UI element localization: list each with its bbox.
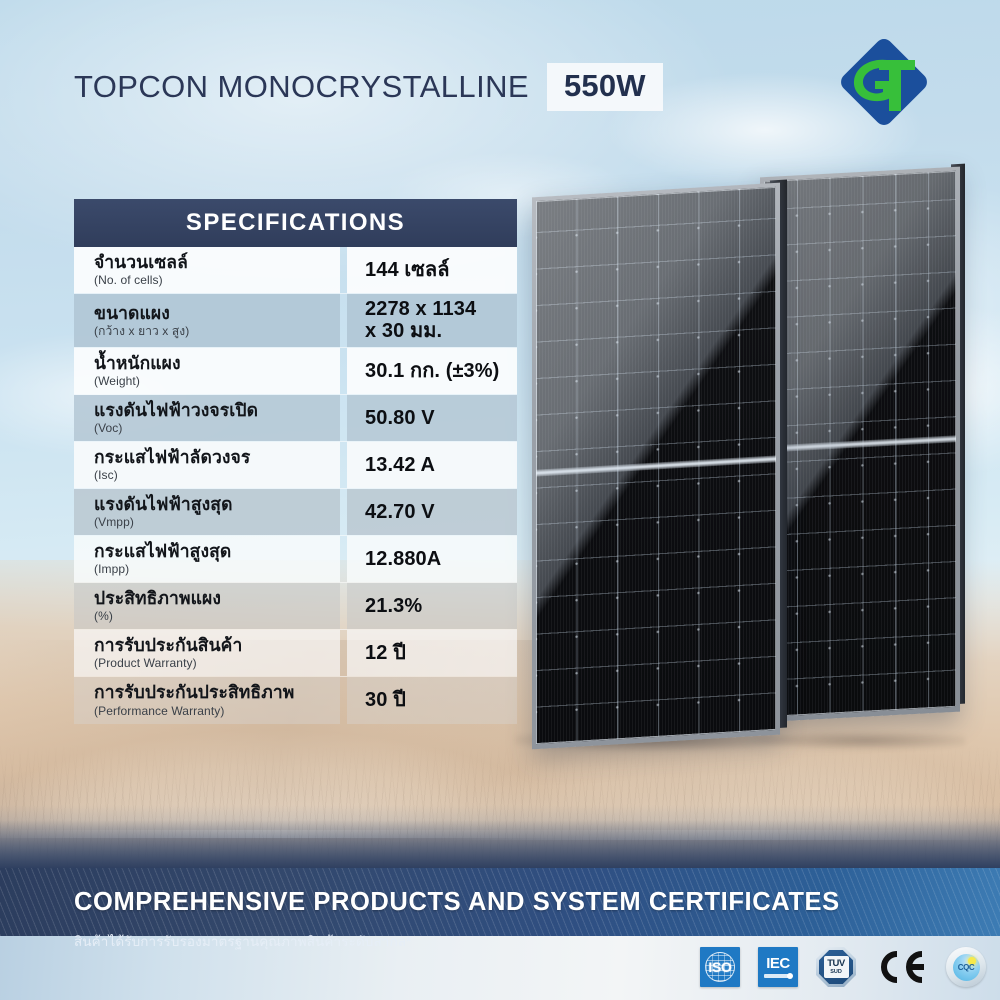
- spec-value-cell: 12.880A: [347, 536, 517, 582]
- tuv-sublabel: SUD: [830, 970, 842, 976]
- spec-value-cell: 50.80 V: [347, 395, 517, 441]
- spec-label-th: กระแสไฟฟ้าลัดวงจร: [94, 447, 340, 467]
- cqc-label: CQC: [958, 963, 975, 972]
- spec-label-cell: ขนาดแผง (กว้าง x ยาว x สูง): [74, 294, 340, 347]
- spec-label-th: แรงดันไฟฟ้าวงจรเปิด: [94, 400, 340, 420]
- spec-value: 30 ปี: [365, 689, 517, 711]
- table-row: จำนวนเซลล์ (No. of cells) 144 เซลล์: [74, 247, 517, 294]
- footer-title: COMPREHENSIVE PRODUCTS AND SYSTEM CERTIF…: [74, 888, 840, 917]
- header-title-row: TOPCON MONOCRYSTALLINE 550W: [74, 63, 663, 111]
- cell-divider: [340, 247, 347, 293]
- panel-glass: [536, 187, 776, 744]
- iec-badge-icon: IEC: [758, 947, 798, 987]
- cell-divider: [340, 677, 347, 724]
- spec-label-th: การรับประกันประสิทธิภาพ: [94, 682, 340, 702]
- tuv-sud-badge-icon: TUV SUD: [816, 947, 856, 987]
- cell-divider: [340, 630, 347, 676]
- cell-divider: [340, 348, 347, 394]
- spec-label-en: (Isc): [94, 468, 340, 482]
- spec-value-cell: 42.70 V: [347, 489, 517, 535]
- spec-label-th: ประสิทธิภาพแผง: [94, 588, 340, 608]
- spec-label-en: (Product Warranty): [94, 656, 340, 670]
- table-row: กระแสไฟฟ้าลัดวงจร (Isc) 13.42 A: [74, 442, 517, 489]
- iec-inner: IEC: [764, 956, 792, 978]
- cell-divider: [340, 395, 347, 441]
- iso-square: ISO: [700, 947, 740, 987]
- tuv-octagon: TUV SUD: [816, 947, 856, 987]
- spec-label-en: (Weight): [94, 374, 340, 388]
- spec-label-th: การรับประกันสินค้า: [94, 635, 340, 655]
- wattage-badge: 550W: [547, 63, 663, 111]
- spec-value: 12 ปี: [365, 642, 517, 664]
- iec-bar-icon: [764, 974, 792, 978]
- certificate-badges: ISO IEC TUV SUD: [700, 940, 986, 994]
- spec-label-cell: ประสิทธิภาพแผง (%): [74, 583, 340, 629]
- spec-label-en: (Vmpp): [94, 515, 340, 529]
- cell-divider: [340, 489, 347, 535]
- spec-value: 42.70 V: [365, 501, 517, 523]
- spec-label-cell: กระแสไฟฟ้าลัดวงจร (Isc): [74, 442, 340, 488]
- panel-glass: [764, 171, 956, 717]
- spec-label-th: น้ำหนักแผง: [94, 353, 340, 373]
- table-row: แรงดันไฟฟ้าวงจรเปิด (Voc) 50.80 V: [74, 395, 517, 442]
- table-row: น้ำหนักแผง (Weight) 30.1 กก. (±3%): [74, 348, 517, 395]
- wattage-label: 550W: [564, 68, 646, 103]
- spec-value: 2278 x 1134: [365, 298, 517, 320]
- spec-value-cell: 30 ปี: [347, 677, 517, 724]
- iec-square: IEC: [758, 947, 798, 987]
- footer-subtitle: สินค้าได้รับการรับรองมาตรฐานคุณภาพสินค้า…: [74, 930, 411, 952]
- cqc-disc: CQC: [953, 954, 980, 981]
- table-row: กระแสไฟฟ้าสูงสุด (Impp) 12.880A: [74, 536, 517, 583]
- cell-divider: [340, 583, 347, 629]
- spec-value-cell: 30.1 กก. (±3%): [347, 348, 517, 394]
- cqc-badge-icon: CQC: [946, 947, 986, 987]
- spec-label-cell: การรับประกันสินค้า (Product Warranty): [74, 630, 340, 676]
- spec-label-cell: การรับประกันประสิทธิภาพ (Performance War…: [74, 677, 340, 724]
- poster-canvas: TOPCON MONOCRYSTALLINE 550W: [0, 0, 1000, 1000]
- spec-label-en: (Impp): [94, 562, 340, 576]
- spec-label-th: ขนาดแผง: [94, 303, 340, 323]
- iec-label: IEC: [766, 956, 790, 971]
- globe-icon: [705, 952, 735, 982]
- spec-value: 12.880A: [365, 548, 517, 570]
- table-row: ขนาดแผง (กว้าง x ยาว x สูง) 2278 x 1134 …: [74, 294, 517, 348]
- spec-value-cell: 2278 x 1134 x 30 มม.: [347, 294, 517, 347]
- spec-label-en: (Performance Warranty): [94, 704, 340, 718]
- cqc-circle: CQC: [946, 947, 986, 987]
- table-row: ประสิทธิภาพแผง (%) 21.3%: [74, 583, 517, 630]
- spec-label-en: (%): [94, 609, 340, 623]
- spec-label-cell: กระแสไฟฟ้าสูงสุด (Impp): [74, 536, 340, 582]
- spec-label-cell: น้ำหนักแผง (Weight): [74, 348, 340, 394]
- ce-marking-icon: [874, 947, 928, 987]
- spec-label-th: แรงดันไฟฟ้าสูงสุด: [94, 494, 340, 514]
- spec-label-cell: จำนวนเซลล์ (No. of cells): [74, 247, 340, 293]
- spec-value: 50.80 V: [365, 407, 517, 429]
- spec-label-th: กระแสไฟฟ้าสูงสุด: [94, 541, 340, 561]
- solar-panel-front: [532, 183, 780, 750]
- gt-logo: [829, 27, 939, 137]
- cell-divider: [340, 442, 347, 488]
- solar-panel-back: [760, 167, 960, 723]
- table-row: การรับประกันสินค้า (Product Warranty) 12…: [74, 630, 517, 677]
- specifications-table: SPECIFICATIONS จำนวนเซลล์ (No. of cells)…: [74, 199, 517, 724]
- iso-badge-icon: ISO: [700, 947, 740, 987]
- spec-value-cell: 21.3%: [347, 583, 517, 629]
- spec-label-en: (Voc): [94, 421, 340, 435]
- tuv-label: TUV: [827, 959, 845, 969]
- table-row: แรงดันไฟฟ้าสูงสุด (Vmpp) 42.70 V: [74, 489, 517, 536]
- spec-value: 13.42 A: [365, 454, 517, 476]
- spec-label-en: (กว้าง x ยาว x สูง): [94, 324, 340, 338]
- cell-divider: [340, 294, 347, 347]
- spec-value-cell: 144 เซลล์: [347, 247, 517, 293]
- spec-label-en: (No. of cells): [94, 273, 340, 287]
- table-row: การรับประกันประสิทธิภาพ (Performance War…: [74, 677, 517, 724]
- tuv-core: TUV SUD: [824, 956, 849, 978]
- solar-panel-product-image: [505, 150, 985, 750]
- spec-label-cell: แรงดันไฟฟ้าสูงสุด (Vmpp): [74, 489, 340, 535]
- spec-value-line2: x 30 มม.: [365, 320, 517, 342]
- spec-label-cell: แรงดันไฟฟ้าวงจรเปิด (Voc): [74, 395, 340, 441]
- spec-label-th: จำนวนเซลล์: [94, 252, 340, 272]
- spec-value: 30.1 กก. (±3%): [365, 360, 517, 382]
- cell-divider: [340, 536, 347, 582]
- spec-value: 144 เซลล์: [365, 259, 517, 281]
- spec-value-cell: 12 ปี: [347, 630, 517, 676]
- footer-band-fade: [0, 820, 1000, 870]
- specifications-heading: SPECIFICATIONS: [74, 199, 517, 247]
- spec-value: 21.3%: [365, 595, 517, 617]
- page-title: TOPCON MONOCRYSTALLINE: [74, 69, 529, 105]
- spec-value-cell: 13.42 A: [347, 442, 517, 488]
